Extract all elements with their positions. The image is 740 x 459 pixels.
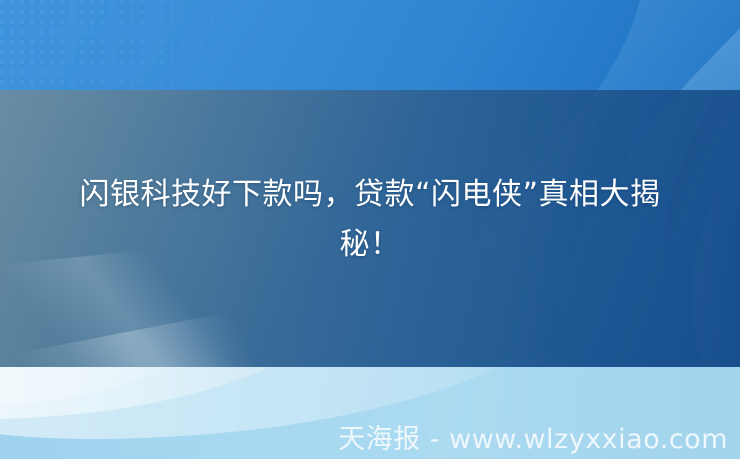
poster-canvas: 闪银科技好下款吗，贷款“闪电侠”真相大揭秘！ 天海报 - www.wlzyxxi… <box>0 0 740 459</box>
poster-title-block: 闪银科技好下款吗，贷款“闪电侠”真相大揭秘！ <box>0 170 740 270</box>
watermark: 天海报 - www.wlzyxxiao.com <box>338 426 728 453</box>
page-title: 闪银科技好下款吗，贷款“闪电侠”真相大揭秘！ <box>52 170 688 270</box>
